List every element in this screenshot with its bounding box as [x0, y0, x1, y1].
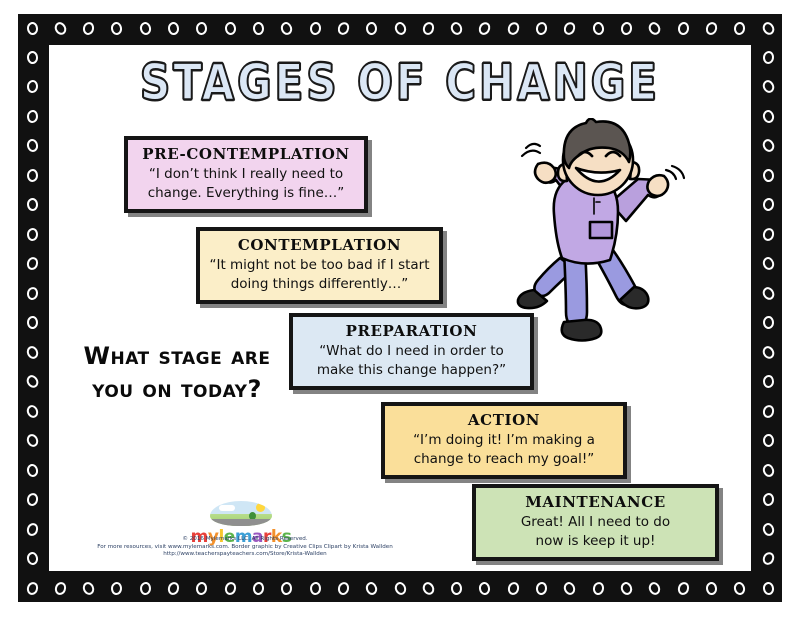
border-dot — [761, 197, 774, 212]
reflection-prompt: What stage are you on today? — [62, 340, 292, 406]
border-dot — [26, 198, 37, 211]
border-dot — [25, 286, 39, 301]
border-dot — [393, 20, 408, 36]
stage-quote-line-2: doing things differently…” — [208, 275, 431, 293]
border-dot — [704, 20, 719, 36]
border-dot — [676, 580, 691, 596]
border-dot — [733, 580, 747, 595]
border-dot — [760, 285, 776, 302]
copyright-line: © 2016 Mylemarks LLC. All Rights Reserve… — [55, 536, 435, 544]
jumping-boy-illustration — [498, 118, 718, 348]
border-dot — [366, 21, 377, 34]
border-dot — [336, 20, 352, 37]
border-dot — [393, 580, 408, 596]
border-dot — [25, 139, 38, 154]
border-dot — [477, 20, 493, 37]
border-dot — [647, 580, 662, 596]
logo-landscape-icon — [210, 501, 272, 526]
border-dot — [760, 138, 775, 154]
border-dot — [26, 227, 38, 241]
border-dot — [591, 580, 605, 595]
border-dot — [562, 20, 578, 37]
border-dot — [24, 432, 39, 448]
stage-quote-line-2: now is keep it up! — [484, 532, 707, 550]
border-dot — [676, 21, 689, 36]
border-dot — [223, 580, 238, 596]
stage-box-pre-contemplation: PRE-CONTEMPLATION “I don’t think I reall… — [124, 136, 368, 213]
border-dot — [24, 344, 39, 360]
border-dot — [761, 462, 775, 478]
stage-quote-line-1: “It might not be too bad if I start — [208, 256, 431, 274]
border-dot — [365, 580, 379, 596]
border-dot — [25, 463, 38, 478]
border-dot — [451, 581, 462, 594]
stage-box-maintenance: MAINTENANCE Great! All I need to do now … — [472, 484, 719, 561]
border-dot — [535, 20, 549, 35]
stage-title: PRE-CONTEMPLATION — [136, 144, 356, 164]
border-dot — [25, 492, 39, 507]
border-dot — [224, 21, 236, 35]
border-dot — [336, 580, 350, 596]
border-dot — [26, 109, 38, 123]
border-dot — [280, 20, 294, 36]
border-dot — [252, 581, 265, 596]
border-dot — [26, 316, 38, 329]
border-dot — [308, 21, 321, 36]
border-dot — [25, 521, 40, 537]
border-dot — [760, 20, 776, 37]
poster-canvas: STAGES OF CHANGE PRE-CONTEMPLATION “I do… — [0, 0, 800, 618]
stage-quote-line-2: change. Everything is fine…” — [136, 184, 356, 202]
border-dot — [706, 581, 718, 595]
footer-credits: © 2016 Mylemarks LLC. All Rights Reserve… — [55, 536, 435, 559]
border-dot — [762, 581, 774, 595]
border-dot — [762, 316, 773, 329]
stage-quote-line-1: “I don’t think I really need to — [136, 165, 356, 183]
border-dot — [535, 581, 548, 596]
border-dot — [139, 581, 151, 595]
border-dot — [620, 21, 633, 36]
border-dot — [761, 256, 775, 272]
border-dot — [760, 550, 776, 567]
border-dot — [421, 20, 436, 36]
stage-title: PREPARATION — [301, 321, 522, 341]
border-dot — [309, 581, 321, 595]
sun-icon — [256, 503, 265, 512]
border-dot — [505, 20, 521, 37]
border-dot — [82, 20, 96, 36]
border-dot — [139, 21, 152, 36]
stage-title: ACTION — [393, 410, 615, 430]
border-dot — [762, 375, 774, 389]
border-dot — [24, 373, 40, 390]
border-dot — [53, 580, 68, 596]
border-dot — [196, 21, 208, 35]
border-dot — [506, 580, 520, 596]
border-dot — [420, 580, 436, 597]
border-dot — [253, 21, 265, 35]
border-dot — [479, 581, 491, 595]
border-dot — [761, 403, 775, 419]
border-dot — [81, 580, 96, 596]
border-dot — [26, 551, 38, 565]
border-dot — [760, 344, 776, 361]
border-dot — [26, 168, 38, 182]
border-dot — [762, 169, 774, 182]
border-dot — [761, 521, 775, 537]
border-dot — [166, 580, 181, 596]
stage-box-action: ACTION “I’m doing it! I’m making a chang… — [381, 402, 627, 479]
stage-title: MAINTENANCE — [484, 492, 707, 512]
border-dot — [733, 21, 746, 36]
border-dot — [25, 256, 40, 272]
border-dot — [26, 21, 38, 35]
stage-quote-line-2: change to reach my goal!” — [393, 450, 615, 468]
border-dot — [762, 434, 773, 447]
page-title: STAGES OF CHANGE — [0, 54, 800, 112]
resources-line: For more resources, visit www.mylemarks.… — [55, 544, 435, 552]
border-dot — [195, 581, 208, 596]
border-dot — [592, 21, 605, 35]
border-dot — [619, 580, 634, 596]
stage-quote-line-1: Great! All I need to do — [484, 513, 707, 531]
border-dot — [25, 580, 40, 596]
stage-quote-line-1: “I’m doing it! I’m making a — [393, 431, 615, 449]
border-dot — [449, 20, 464, 36]
border-dot — [761, 226, 775, 242]
border-dot — [24, 403, 39, 419]
border-dot — [562, 580, 577, 596]
stage-box-contemplation: CONTEMPLATION “It might not be too bad i… — [196, 227, 443, 304]
border-dot — [111, 21, 123, 35]
border-dot — [52, 20, 68, 37]
stage-title: CONTEMPLATION — [208, 235, 431, 255]
border-dot — [762, 492, 775, 506]
road-icon — [210, 519, 272, 526]
border-dot — [111, 581, 123, 595]
stage-quote-line-1: “What do I need in order to — [301, 342, 522, 360]
border-dot — [168, 21, 180, 35]
border-dot — [280, 581, 293, 595]
stage-quote-line-2: make this change happen?” — [301, 361, 522, 379]
border-dot — [647, 20, 663, 37]
store-url-line: http://www.teacherspayteachers.com/Store… — [55, 551, 435, 559]
cloud-icon — [219, 505, 235, 511]
